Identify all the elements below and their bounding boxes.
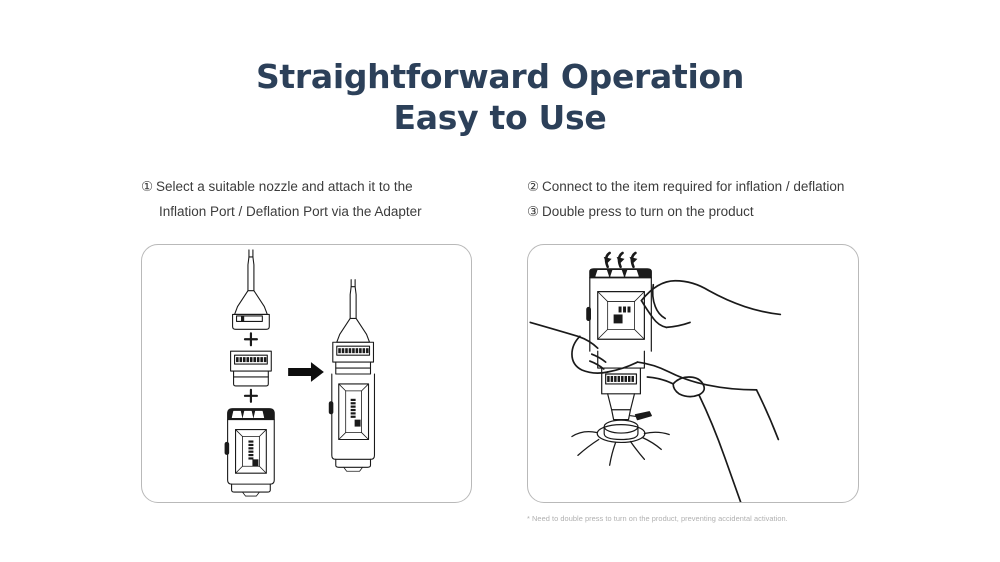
plus-separator-2 <box>245 390 257 402</box>
step-text-1-continuation: Inflation Port / Deflation Port via the … <box>141 200 422 225</box>
step-marker-2: ② <box>527 175 542 200</box>
assembled-device <box>329 280 374 472</box>
body-brand-mark <box>248 440 258 466</box>
instruction-step-3: ③Double press to turn on the product <box>527 200 927 225</box>
instruction-column-left: ①Select a suitable nozzle and attach it … <box>141 175 481 224</box>
device-brand-mark <box>614 307 631 324</box>
title-line-2: Easy to Use <box>0 97 1000 138</box>
exploded-pump-body <box>225 409 274 496</box>
instruction-step-1-continuation: Inflation Port / Deflation Port via the … <box>141 200 481 225</box>
adapter-brand-mark <box>236 357 266 362</box>
step-text-1: Select a suitable nozzle and attach it t… <box>156 179 413 194</box>
illustration-panel-assembly <box>141 244 472 503</box>
operation-diagram <box>528 245 858 502</box>
airflow-arrowheads-icon <box>604 257 638 264</box>
instruction-column-right: ②Connect to the item required for inflat… <box>527 175 927 224</box>
step-marker-1: ① <box>141 175 156 200</box>
device-inverted <box>587 269 651 420</box>
step-marker-3: ③ <box>527 200 542 225</box>
illustration-panel-operation <box>527 244 859 503</box>
footnote: * Need to double press to turn on the pr… <box>527 513 927 524</box>
hand-illustration <box>530 281 780 502</box>
assembly-diagram <box>142 245 471 502</box>
instruction-step-2: ②Connect to the item required for inflat… <box>527 175 927 200</box>
exploded-adapter <box>231 351 272 386</box>
instructions-area: ①Select a suitable nozzle and attach it … <box>0 175 1000 225</box>
title-line-1: Straightforward Operation <box>0 56 1000 97</box>
slide-root: Straightforward Operation Easy to Use ①S… <box>0 0 1000 562</box>
assembled-brand-mark <box>338 348 368 353</box>
page-title: Straightforward Operation Easy to Use <box>0 56 1000 138</box>
assembly-arrow-icon <box>288 362 324 382</box>
instruction-step-1: ①Select a suitable nozzle and attach it … <box>141 175 481 200</box>
plus-separator-1 <box>245 333 257 345</box>
fabric-creases <box>572 432 669 466</box>
step-text-2: Connect to the item required for inflati… <box>542 179 844 194</box>
step-text-3: Double press to turn on the product <box>542 204 754 219</box>
exploded-nozzle <box>233 250 270 329</box>
